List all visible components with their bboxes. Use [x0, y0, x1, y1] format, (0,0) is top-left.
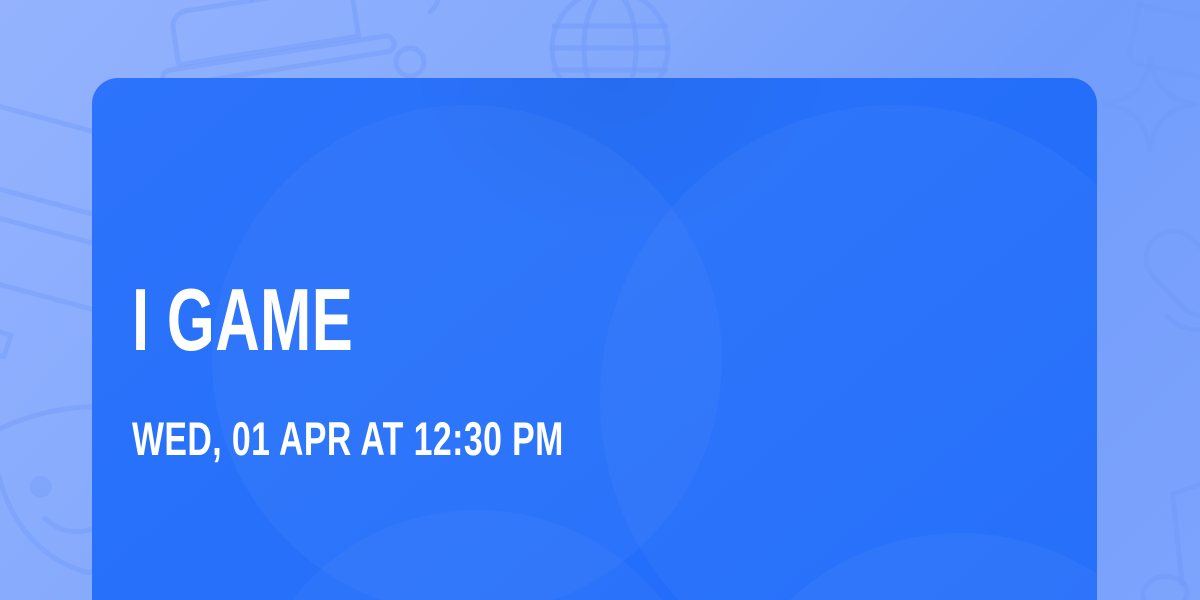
event-card[interactable]: I GAME WED, 01 APR AT 12:30 PM — [92, 78, 1097, 600]
calendar-icon — [1128, 0, 1200, 82]
projector-icon — [148, 0, 396, 87]
event-datetime: WED, 01 APR AT 12:30 PM — [132, 413, 564, 465]
event-card-content: I GAME WED, 01 APR AT 12:30 PM — [132, 78, 1057, 600]
sparkle-icon — [1104, 58, 1196, 150]
music-note-icon — [1131, 468, 1200, 600]
confetti-dot-icon — [396, 0, 438, 76]
event-poster: I GAME WED, 01 APR AT 12:30 PM — [0, 0, 1200, 600]
microphone-icon — [1122, 207, 1200, 375]
event-title: I GAME — [132, 274, 353, 366]
ticket-icon — [0, 298, 11, 407]
